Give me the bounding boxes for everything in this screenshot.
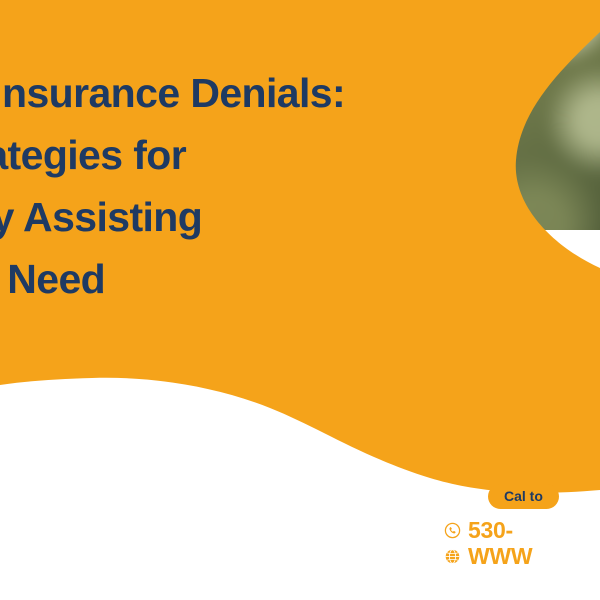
headline-line-4: n Need xyxy=(0,248,540,310)
call-today-badge[interactable]: Cal to xyxy=(488,484,559,509)
brand-logo[interactable]: S de xyxy=(0,489,90,548)
promo-banner: g Insurance Denials: rategies for lly As… xyxy=(0,0,600,600)
headline-line-3: lly Assisting xyxy=(0,186,540,248)
brand-logo-name: S xyxy=(0,489,90,525)
phone-circle-icon xyxy=(444,522,461,539)
globe-icon xyxy=(444,548,461,565)
headline-line-2: rategies for xyxy=(0,124,540,186)
website-url: WWW xyxy=(468,544,532,568)
page-title: g Insurance Denials: rategies for lly As… xyxy=(0,62,540,310)
website-row[interactable]: WWW xyxy=(444,544,600,568)
phone-number: 530- xyxy=(468,518,513,542)
phone-row[interactable]: 530- xyxy=(444,518,600,542)
brand-logo-tagline: de xyxy=(0,526,90,548)
contact-block: Cal to 530- WWW xyxy=(444,484,600,568)
headline-line-1: g Insurance Denials: xyxy=(0,62,540,124)
